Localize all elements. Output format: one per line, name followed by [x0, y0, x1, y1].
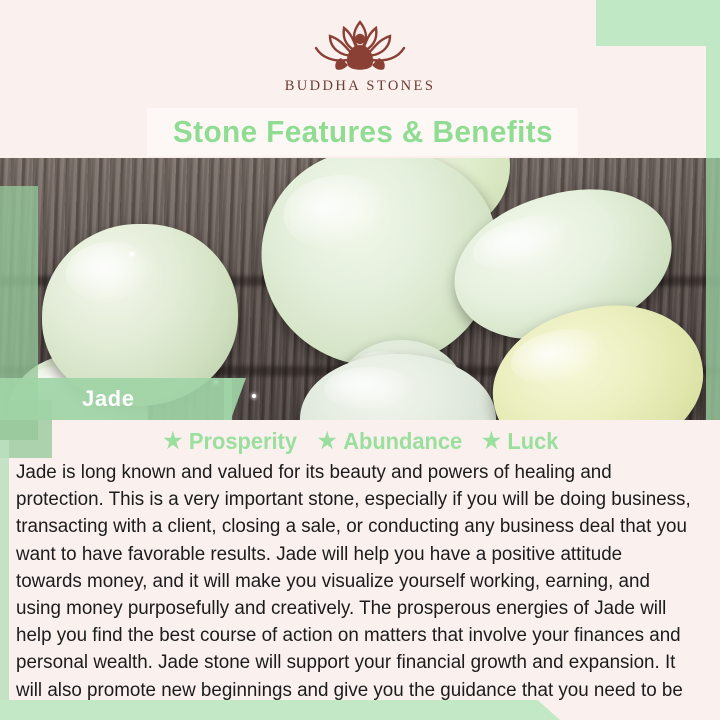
- infographic-page: BUDDHA STONES Stone Features & Benefits …: [0, 0, 720, 720]
- benefit-label: Luck: [507, 428, 558, 455]
- decor-green-band-bottom: [0, 700, 560, 720]
- page-title: Stone Features & Benefits: [172, 114, 552, 150]
- brand-logo: BUDDHA STONES: [0, 14, 720, 106]
- benefit-label: Prosperity: [188, 428, 296, 455]
- stone-name-label: Jade: [82, 386, 135, 412]
- lotus-meditation-icon: [308, 14, 412, 76]
- decor-green-strip-left-bottom: [0, 440, 9, 720]
- benefit-prosperity: ★ Prosperity: [163, 428, 296, 455]
- title-banner: Stone Features & Benefits: [147, 108, 578, 156]
- decor-green-band-right: [706, 158, 720, 420]
- star-icon: ★: [318, 430, 337, 452]
- benefit-abundance: ★ Abundance: [318, 428, 462, 455]
- sparkle-highlight: [130, 252, 134, 256]
- star-icon: ★: [482, 430, 501, 452]
- benefit-label: Abundance: [343, 428, 462, 455]
- sparkle-highlight: [252, 394, 256, 398]
- benefit-luck: ★ Luck: [482, 428, 558, 455]
- benefits-row: ★ Prosperity ★ Abundance ★ Luck: [0, 424, 720, 458]
- star-icon: ★: [163, 430, 182, 452]
- stone-description: Jade is long known and valued for its be…: [16, 459, 691, 720]
- brand-name: BUDDHA STONES: [285, 78, 436, 95]
- stone-label-band: Jade: [0, 378, 232, 420]
